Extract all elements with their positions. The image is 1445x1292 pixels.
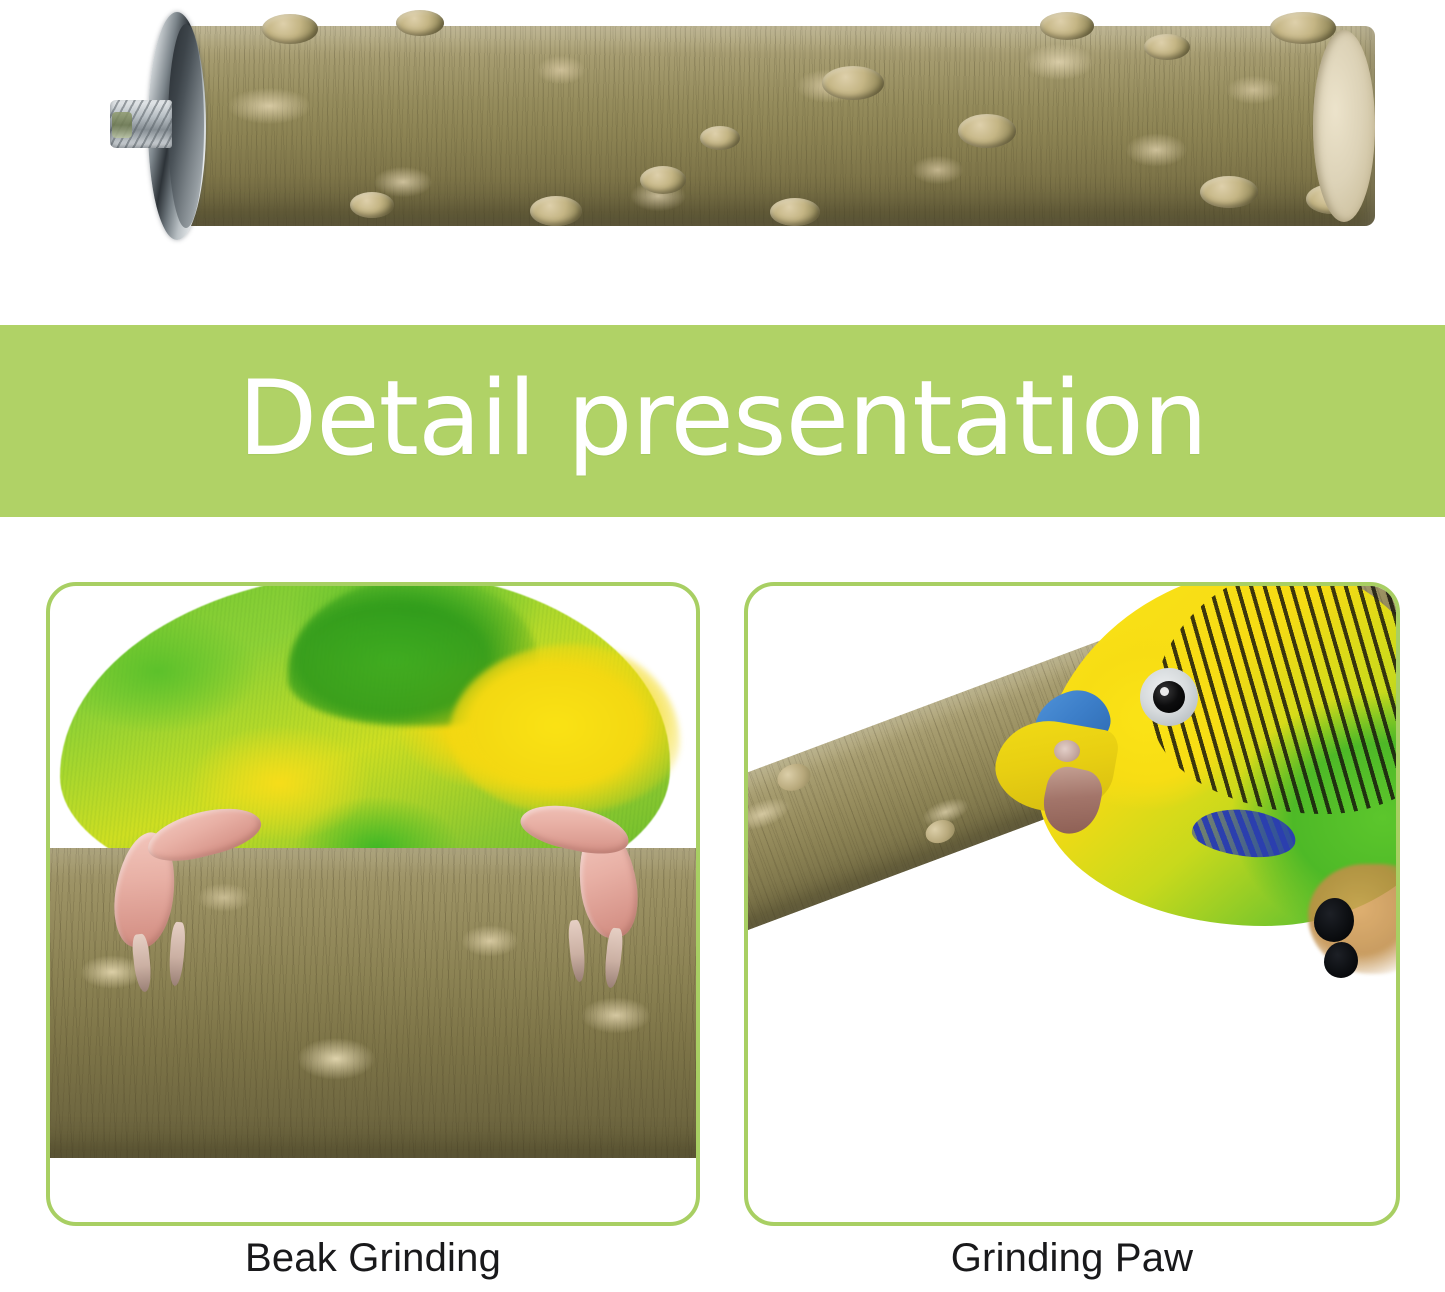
bark-knob xyxy=(922,816,958,847)
wood-perch-product xyxy=(110,8,1375,240)
detail-panels: Beak Grinding xyxy=(0,560,1445,1292)
perch-cut-end xyxy=(1313,30,1375,222)
bark-knob xyxy=(1040,12,1094,40)
budgie-throat-spot xyxy=(1314,898,1354,942)
bark-knob xyxy=(770,198,820,226)
caption-grinding-paw: Grinding Paw xyxy=(744,1236,1400,1281)
product-detail-page: Detail presentation xyxy=(0,0,1445,1292)
mounting-screw-tip xyxy=(112,112,132,138)
bark-knob xyxy=(262,14,318,44)
section-banner: Detail presentation xyxy=(0,325,1445,517)
budgie-nostril xyxy=(1054,740,1080,762)
perch-log-body xyxy=(160,26,1375,226)
bark-knob xyxy=(1270,12,1336,44)
budgie-eye xyxy=(1153,681,1185,713)
bark-knob xyxy=(396,10,444,36)
bark-knob xyxy=(350,192,394,218)
bark-knob xyxy=(530,196,582,226)
chrome-washer-inner xyxy=(168,24,204,228)
bark-knob xyxy=(700,126,740,150)
budgie-throat-spot xyxy=(1324,942,1358,978)
bark-knob xyxy=(773,759,814,795)
detail-panel-grinding-paw xyxy=(744,582,1400,1226)
detail-panel-beak-grinding xyxy=(46,582,700,1226)
grinding-paw-photo xyxy=(748,586,1396,1222)
bark-knob xyxy=(640,166,686,194)
hero-product-photo xyxy=(0,0,1445,322)
bark-knob xyxy=(1200,176,1258,208)
bark-knob xyxy=(822,66,884,100)
bark-knob xyxy=(958,114,1016,148)
budgie-eye-glint xyxy=(1160,687,1169,696)
bark-knob xyxy=(1144,34,1190,60)
banner-title: Detail presentation xyxy=(238,368,1207,471)
caption-beak-grinding: Beak Grinding xyxy=(46,1236,700,1281)
beak-grinding-photo xyxy=(50,586,696,1222)
